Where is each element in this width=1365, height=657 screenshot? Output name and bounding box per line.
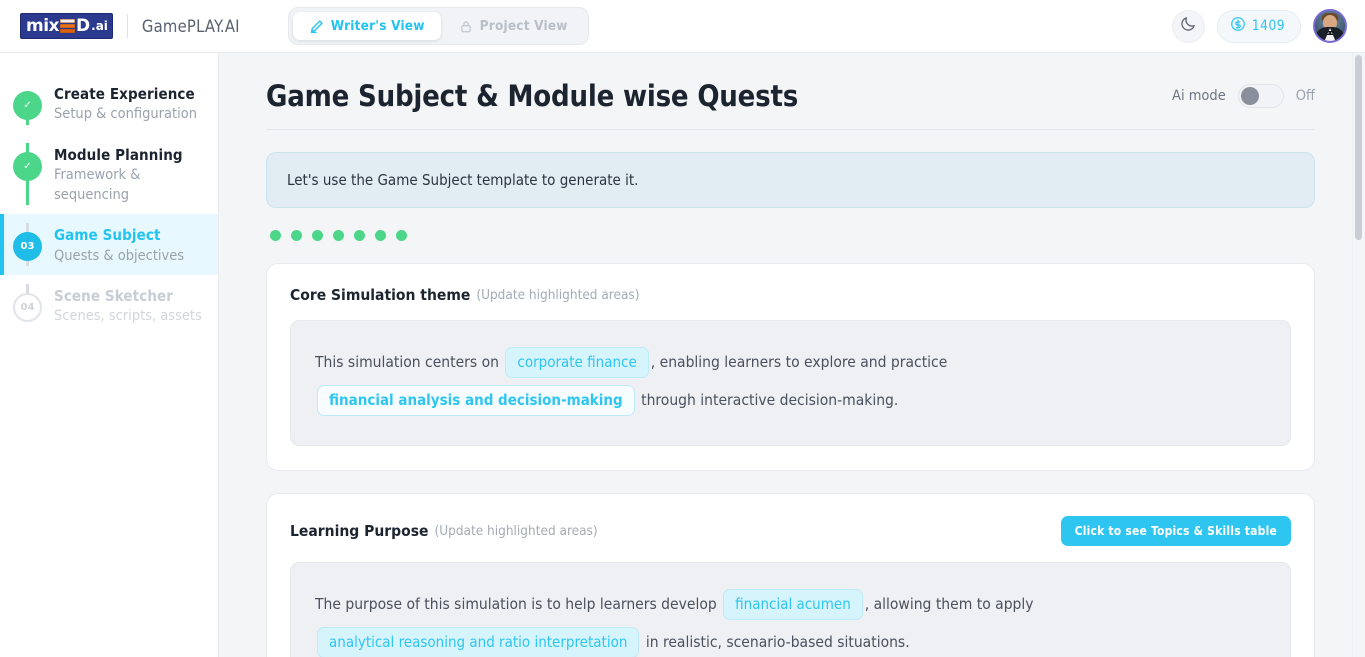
vertical-scrollbar[interactable] xyxy=(1352,53,1365,657)
step-subtitle-3: Quests & objectives xyxy=(54,246,184,266)
logo-text-ai: .ai xyxy=(91,20,108,32)
logo-text-d: D xyxy=(76,18,90,35)
tab-project-view[interactable]: Project View xyxy=(443,12,584,40)
body-text: This simulation centers on xyxy=(315,353,503,371)
progress-dot xyxy=(396,230,407,241)
toggle-knob xyxy=(1241,87,1259,105)
app-title: GamePLAY.AI xyxy=(142,17,240,36)
sidebar-item-module-planning[interactable]: ✓ Module Planning Framework & sequencing xyxy=(0,134,218,215)
moon-icon xyxy=(1180,15,1197,37)
step-badge-2: ✓ xyxy=(13,152,42,181)
step-title-1: Create Experience xyxy=(54,84,197,104)
info-banner: Let's use the Game Subject template to g… xyxy=(266,152,1315,208)
progress-dot xyxy=(354,230,365,241)
progress-dot xyxy=(333,230,344,241)
header-divider xyxy=(127,14,128,38)
step-text-1: Create Experience Setup & configuration xyxy=(54,82,197,125)
credits-pill[interactable]: 1409 xyxy=(1217,10,1301,43)
scrollbar-thumb[interactable] xyxy=(1355,55,1362,240)
dollar-coin-icon xyxy=(1230,16,1246,37)
ai-mode-state: Off xyxy=(1296,88,1315,104)
progress-dot xyxy=(270,230,281,241)
pencil-icon xyxy=(309,19,324,34)
card-header: Core Simulation theme (Update highlighte… xyxy=(290,286,1291,304)
app-header: mix D .ai GamePLAY.AI Writer's View Proj… xyxy=(0,0,1365,53)
brand-logo[interactable]: mix D .ai xyxy=(20,13,113,39)
editable-highlight-chip[interactable]: financial analysis and decision-making xyxy=(317,385,635,416)
progress-dot xyxy=(291,230,302,241)
card-hint: (Update highlighted areas) xyxy=(434,523,597,539)
body-text: in realistic, scenario-based situations. xyxy=(641,633,909,651)
step-text-3: Game Subject Quests & objectives xyxy=(54,223,184,266)
card-learning-purpose: Learning Purpose (Update highlighted are… xyxy=(266,493,1315,657)
app-body: ✓ Create Experience Setup & configuratio… xyxy=(0,53,1365,657)
card-title: Learning Purpose xyxy=(290,522,428,540)
view-tab-group: Writer's View Project View xyxy=(288,7,589,45)
editable-highlight-chip[interactable]: analytical reasoning and ratio interpret… xyxy=(317,627,639,657)
ai-mode-toggle[interactable] xyxy=(1238,84,1284,108)
main-content: Game Subject & Module wise Quests Ai mod… xyxy=(219,53,1365,657)
main-inner: Game Subject & Module wise Quests Ai mod… xyxy=(219,53,1365,657)
step-badge-4: 04 xyxy=(13,293,42,322)
step-subtitle-4: Scenes, scripts, assets xyxy=(54,306,202,326)
body-text: , enabling learners to explore and pract… xyxy=(651,353,948,371)
editable-highlight-chip[interactable]: corporate finance xyxy=(505,347,648,378)
avatar[interactable] xyxy=(1313,9,1347,43)
body-text: The purpose of this simulation is to hel… xyxy=(315,595,721,613)
step-title-4: Scene Sketcher xyxy=(54,286,202,306)
topics-skills-table-button[interactable]: Click to see Topics & Skills table xyxy=(1061,516,1291,546)
card-body: The purpose of this simulation is to hel… xyxy=(290,562,1291,657)
step-rail-3: 03 xyxy=(0,223,54,266)
page-header: Game Subject & Module wise Quests Ai mod… xyxy=(266,79,1315,130)
card-header: Learning Purpose (Update highlighted are… xyxy=(290,516,1291,546)
step-badge-1: ✓ xyxy=(13,91,42,120)
body-text: through interactive decision-making. xyxy=(637,391,899,409)
card-core-simulation-theme: Core Simulation theme (Update highlighte… xyxy=(266,263,1315,471)
tab-writers-view-label: Writer's View xyxy=(331,18,425,34)
step-badge-3: 03 xyxy=(13,232,42,261)
lock-icon xyxy=(459,19,473,34)
step-rail-4: 04 xyxy=(0,284,54,327)
logo-text-mix: mix xyxy=(26,18,59,35)
theme-toggle-button[interactable] xyxy=(1172,10,1205,43)
sidebar-item-game-subject[interactable]: 03 Game Subject Quests & objectives xyxy=(0,214,218,275)
tab-project-view-label: Project View xyxy=(480,18,568,34)
credits-value: 1409 xyxy=(1252,18,1285,34)
editable-highlight-chip[interactable]: financial acumen xyxy=(723,589,863,620)
sidebar-stepper: ✓ Create Experience Setup & configuratio… xyxy=(0,53,219,657)
body-text: , allowing them to apply xyxy=(865,595,1034,613)
progress-dots xyxy=(270,230,1315,241)
sidebar-item-create-experience[interactable]: ✓ Create Experience Setup & configuratio… xyxy=(0,73,218,134)
progress-dot xyxy=(375,230,386,241)
3d-cube-icon xyxy=(60,17,75,36)
step-subtitle-1: Setup & configuration xyxy=(54,104,197,124)
header-actions: 1409 xyxy=(1172,9,1347,43)
step-title-2: Module Planning xyxy=(54,145,206,165)
ai-mode-control: Ai mode Off xyxy=(1172,84,1315,108)
progress-dot xyxy=(312,230,323,241)
tab-writers-view[interactable]: Writer's View xyxy=(293,12,441,40)
mixed-logo-mark: mix D .ai xyxy=(20,13,113,39)
card-title: Core Simulation theme xyxy=(290,286,470,304)
card-body: This simulation centers on corporate fin… xyxy=(290,320,1291,446)
sidebar-item-scene-sketcher[interactable]: 04 Scene Sketcher Scenes, scripts, asset… xyxy=(0,275,218,336)
step-rail-2: ✓ xyxy=(0,143,54,206)
card-hint: (Update highlighted areas) xyxy=(476,287,639,303)
page-title: Game Subject & Module wise Quests xyxy=(266,79,798,113)
step-title-3: Game Subject xyxy=(54,225,184,245)
step-text-2: Module Planning Framework & sequencing xyxy=(54,143,206,206)
step-text-4: Scene Sketcher Scenes, scripts, assets xyxy=(54,284,202,327)
step-subtitle-2: Framework & sequencing xyxy=(54,165,206,206)
step-rail-1: ✓ xyxy=(0,82,54,125)
ai-mode-label: Ai mode xyxy=(1172,88,1226,104)
